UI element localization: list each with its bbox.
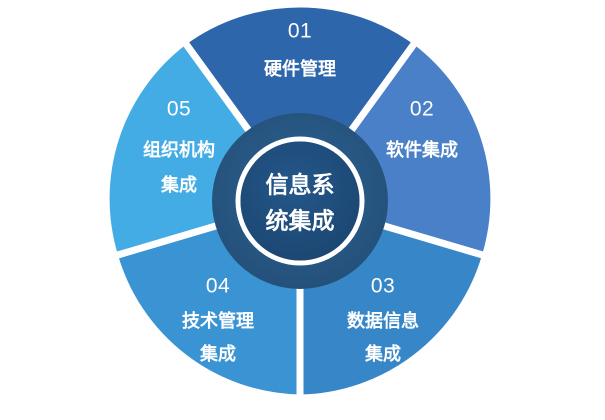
donut-chart: 01 硬件管理 02 软件集成 03 数据信息 集成 04 技术管理 [0, 0, 605, 420]
segment-02-number: 02 [410, 98, 434, 121]
segment-03-label-line1: 数据信息 [347, 310, 419, 332]
segment-04-label-line1: 技术管理 [182, 310, 254, 332]
segment-04-label-line2: 集成 [199, 343, 236, 365]
segment-01-label-line1: 硬件管理 [264, 58, 336, 80]
segment-01-number: 01 [288, 20, 312, 43]
segment-02-label-line1: 软件集成 [386, 139, 458, 161]
segment-04-number: 04 [206, 275, 230, 298]
hub-disc[interactable] [241, 142, 360, 261]
segment-03-label-line2: 集成 [364, 343, 401, 365]
hub-label-line2: 统集成 [266, 208, 335, 235]
diagram-canvas: 01 硬件管理 02 软件集成 03 数据信息 集成 04 技术管理 [0, 0, 605, 420]
hub-label-line1: 信息系 [266, 172, 335, 199]
segment-03-number: 03 [371, 275, 395, 298]
segment-05-number: 05 [167, 98, 191, 121]
segment-05-label-line1: 组织机构 [143, 139, 215, 161]
segment-05-label-line2: 集成 [160, 174, 197, 196]
center-hub[interactable]: 信息系 统集成 [212, 113, 388, 289]
